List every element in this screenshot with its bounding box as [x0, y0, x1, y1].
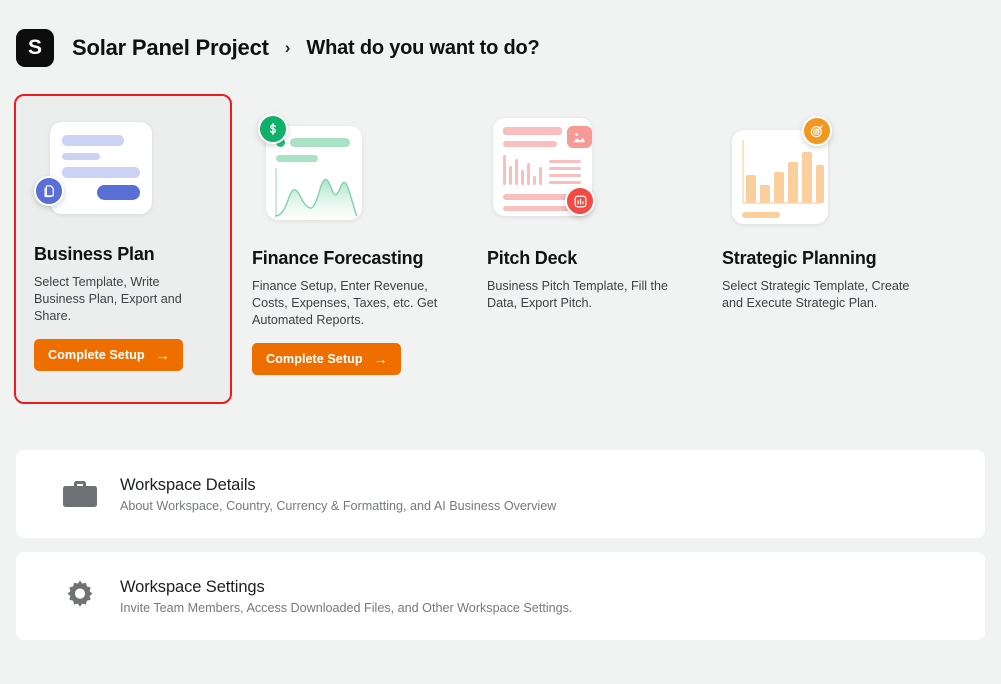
- card-business-plan[interactable]: Business Plan Select Template, Write Bus…: [14, 94, 232, 404]
- panel-workspace-settings[interactable]: Workspace Settings Invite Team Members, …: [16, 552, 985, 640]
- card-description: Select Template, Write Business Plan, Ex…: [34, 274, 212, 325]
- panel-title: Workspace Settings: [120, 578, 572, 597]
- panel-title: Workspace Details: [120, 476, 556, 495]
- complete-setup-button-business-plan[interactable]: Complete Setup →: [34, 339, 183, 371]
- target-badge-icon: [802, 116, 832, 146]
- card-description: Business Pitch Template, Fill the Data, …: [487, 278, 682, 312]
- app-logo-letter: S: [28, 36, 42, 60]
- arrow-right-icon: →: [374, 352, 388, 366]
- card-description: Finance Setup, Enter Revenue, Costs, Exp…: [252, 278, 447, 329]
- strategic-planning-thumbnail: [722, 114, 840, 226]
- card-finance-forecasting[interactable]: Finance Forecasting Finance Setup, Enter…: [232, 94, 467, 404]
- card-description: Select Strategic Template, Create and Ex…: [722, 278, 922, 312]
- dollar-badge-icon: [258, 114, 288, 144]
- breadcrumb-project-name[interactable]: Solar Panel Project: [72, 35, 269, 61]
- card-title: Strategic Planning: [722, 248, 922, 269]
- breadcrumb: S Solar Panel Project › What do you want…: [0, 0, 1001, 78]
- briefcase-icon: [58, 472, 102, 516]
- complete-setup-button-finance-forecasting[interactable]: Complete Setup →: [252, 343, 401, 375]
- card-pitch-deck[interactable]: Pitch Deck Business Pitch Template, Fill…: [467, 94, 702, 404]
- complete-setup-label: Complete Setup: [266, 352, 363, 366]
- chart-badge-icon: [565, 186, 595, 216]
- card-title: Business Plan: [34, 244, 212, 265]
- panel-subtitle: Invite Team Members, Access Downloaded F…: [120, 601, 572, 615]
- thumbnail-sheet: [50, 122, 152, 214]
- panel-subtitle: About Workspace, Country, Currency & For…: [120, 499, 556, 513]
- page-title: What do you want to do?: [306, 37, 539, 60]
- business-plan-thumbnail: [34, 114, 152, 218]
- panel-workspace-details[interactable]: Workspace Details About Workspace, Count…: [16, 450, 985, 538]
- finance-forecasting-thumbnail: [252, 114, 370, 226]
- chevron-right-icon: ›: [285, 38, 291, 58]
- document-badge-icon: [34, 176, 64, 206]
- workspace-panel-list: Workspace Details About Workspace, Count…: [0, 404, 1001, 640]
- gear-icon: [58, 574, 102, 618]
- card-title: Pitch Deck: [487, 248, 682, 269]
- card-title: Finance Forecasting: [252, 248, 447, 269]
- complete-setup-label: Complete Setup: [48, 348, 145, 362]
- card-strategic-planning[interactable]: Strategic Planning Select Strategic Temp…: [702, 94, 942, 404]
- app-logo: S: [16, 29, 54, 67]
- action-card-row: Business Plan Select Template, Write Bus…: [0, 78, 1001, 404]
- arrow-right-icon: →: [156, 348, 170, 362]
- pitch-deck-thumbnail: [487, 114, 605, 226]
